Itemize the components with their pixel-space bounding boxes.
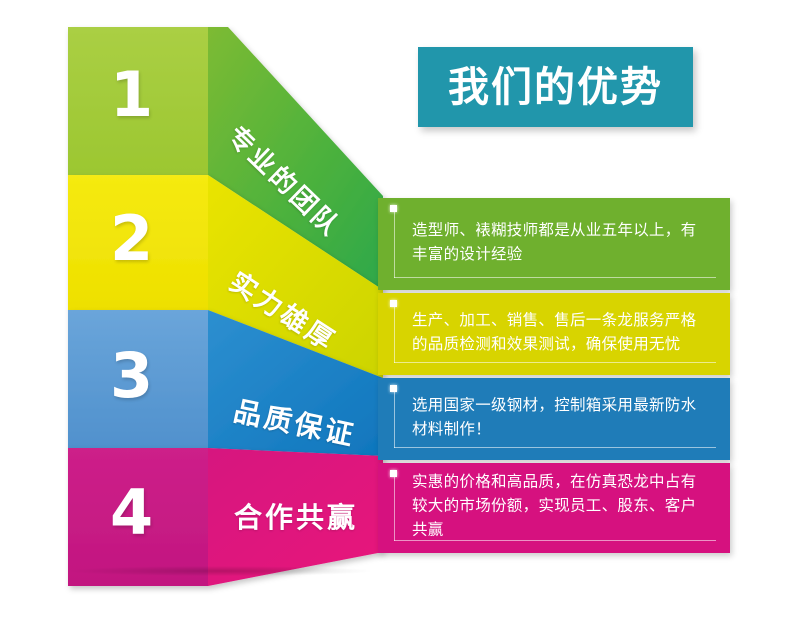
content-box-4: 实惠的价格和高品质，在仿真恐龙中占有较大的市场份额，实现员工、股东、客户共赢 — [378, 463, 730, 553]
page-title: 我们的优势 — [448, 67, 663, 108]
content-box-2: 生产、加工、销售、售后一条龙服务严格的品质检测和效果测试，确保使用无忧 — [378, 293, 730, 375]
bracket-line — [394, 208, 395, 278]
row-number-3: 3 — [110, 345, 153, 407]
row-number-2: 2 — [110, 208, 153, 270]
bracket-line — [394, 388, 395, 448]
row-label-3: 品质保证 — [231, 397, 358, 450]
row-label-2: 实力雄厚 — [225, 268, 340, 356]
content-text-4: 实惠的价格和高品质，在仿真恐龙中占有较大的市场份额，实现员工、股东、客户共赢 — [412, 471, 708, 543]
content-text-1: 造型师、裱糊技师都是从业五年以上，有丰富的设计经验 — [412, 219, 708, 267]
bracket-line-bottom — [394, 362, 716, 363]
infographic-canvas: 我们的优势 — [0, 0, 800, 622]
row-number-1: 1 — [110, 64, 153, 126]
content-box-3: 选用国家一级钢材，控制箱采用最新防水材料制作！ — [378, 378, 730, 460]
content-text-3: 选用国家一级钢材，控制箱采用最新防水材料制作！ — [412, 394, 708, 442]
content-text-2: 生产、加工、销售、售后一条龙服务严格的品质检测和效果测试，确保使用无忧 — [412, 309, 708, 357]
content-box-1: 造型师、裱糊技师都是从业五年以上，有丰富的设计经验 — [378, 198, 730, 290]
bracket-line — [394, 303, 395, 363]
bracket-line — [394, 473, 395, 541]
row-label-1: 专业的团队 — [223, 122, 345, 241]
base-shadow — [70, 566, 370, 576]
bracket-line-bottom — [394, 277, 716, 278]
row-label-4: 合作共赢 — [234, 504, 358, 532]
title-badge: 我们的优势 — [418, 47, 693, 127]
bracket-line-bottom — [394, 447, 716, 448]
row-number-4: 4 — [110, 482, 153, 544]
